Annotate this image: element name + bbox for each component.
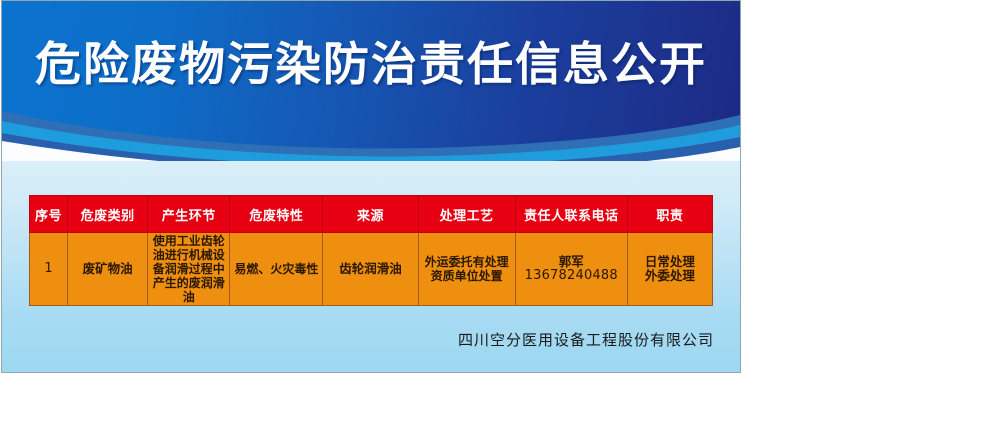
table-header-row: 序号 危废类别 产生环节 危废特性 来源 处理工艺 责任人联系电话 职责 xyxy=(30,196,713,233)
cell-source: 齿轮润滑油 xyxy=(323,233,418,306)
duty-line-1: 日常处理 xyxy=(630,255,710,269)
column-header-hazard-property: 危废特性 xyxy=(230,196,323,233)
information-poster: 危险废物污染防治责任信息公开 序号 危废类别 产生环节 危废特性 来源 处理工艺… xyxy=(2,1,740,372)
table-body: 1 废矿物油 使用工业齿轮油进行机械设备润滑过程中产生的废润滑油 易燃、火灾毒性… xyxy=(30,233,713,306)
column-header-category: 危废类别 xyxy=(68,196,148,233)
column-header-source: 来源 xyxy=(323,196,418,233)
cell-responsible-contact: 郭军 13678240488 xyxy=(515,233,627,306)
responsible-person-name: 郭军 xyxy=(518,255,625,269)
cell-category: 废矿物油 xyxy=(68,233,148,306)
column-header-duty: 职责 xyxy=(627,196,712,233)
column-header-responsible-phone: 责任人联系电话 xyxy=(515,196,627,233)
table-header: 序号 危废类别 产生环节 危废特性 来源 处理工艺 责任人联系电话 职责 xyxy=(30,196,713,233)
banner-wave-decoration xyxy=(2,81,740,161)
responsible-person-phone: 13678240488 xyxy=(518,269,625,283)
cell-generation-stage: 使用工业齿轮油进行机械设备润滑过程中产生的废润滑油 xyxy=(148,233,230,306)
cell-hazard-property: 易燃、火灾毒性 xyxy=(230,233,323,306)
cell-index: 1 xyxy=(30,233,68,306)
hazardous-waste-table: 序号 危废类别 产生环节 危废特性 来源 处理工艺 责任人联系电话 职责 1 废… xyxy=(29,195,713,306)
cell-treatment-process: 外运委托有处理资质单位处置 xyxy=(418,233,515,306)
poster-banner: 危险废物污染防治责任信息公开 xyxy=(2,1,740,161)
duty-line-2: 外委处理 xyxy=(630,269,710,283)
column-header-treatment-process: 处理工艺 xyxy=(418,196,515,233)
cell-duty: 日常处理 外委处理 xyxy=(627,233,712,306)
company-name: 四川空分医用设备工程股份有限公司 xyxy=(2,329,714,350)
table-row: 1 废矿物油 使用工业齿轮油进行机械设备润滑过程中产生的废润滑油 易燃、火灾毒性… xyxy=(30,233,713,306)
column-header-index: 序号 xyxy=(30,196,68,233)
column-header-generation-stage: 产生环节 xyxy=(148,196,230,233)
